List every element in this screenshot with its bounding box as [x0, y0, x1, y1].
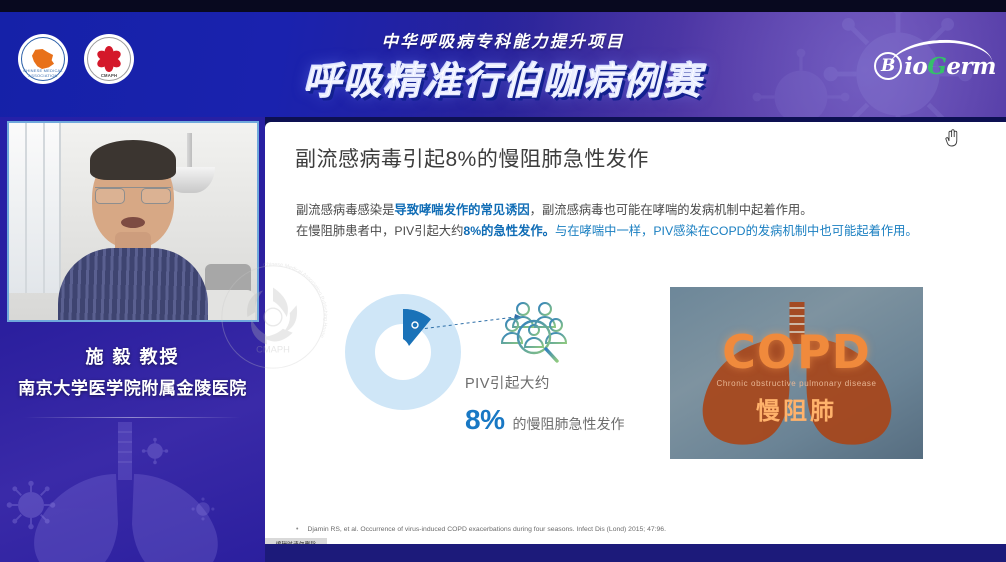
glasses-icon: [95, 187, 171, 204]
top-black-strip: [0, 0, 1006, 12]
copd-lungs-image: COPD Chronic obstructive pulmonary disea…: [670, 287, 923, 459]
copd-word: COPD: [670, 325, 923, 379]
screen-root: CHINESE MEDICAL ASSOCIATION CMAPH 中华呼吸病专…: [0, 0, 1006, 562]
body-p1-highlight: 导致哮喘发作的常见诱因: [394, 203, 529, 217]
presenter-figure: [58, 160, 208, 320]
presenter-nameplate: 施 毅 教授 南京大学医学院附属金陵医院: [0, 325, 265, 417]
banner-title: 呼吸精准行伯咖病例赛: [0, 50, 1006, 105]
biogerm-sponsor-logo: B ioGerm: [874, 46, 996, 86]
chart-caption: PIV引起大约 8% 的慢阻肺急性发作: [465, 372, 624, 436]
slide-title: 副流感病毒引起8%的慢阻肺急性发作: [295, 143, 649, 173]
footnote-bullet: •: [296, 526, 298, 534]
body-p2-highlight: 8%的急性发作。: [463, 224, 555, 238]
copd-chinese-label: 慢阻肺: [670, 391, 923, 426]
window-decoration: [9, 123, 61, 293]
caption-value: 8%: [465, 404, 504, 436]
slide-footnote: • Djamin RS, et al. Occurrence of virus-…: [296, 526, 956, 534]
body-p1-b: ，副流感病毒也可能在哮喘的发病机制中起着作用。: [530, 203, 813, 217]
presenter-video-feed[interactable]: [7, 121, 259, 322]
presenter-name: 施 毅 教授: [85, 343, 179, 369]
copd-subtitle: Chronic obstructive pulmonary disease: [670, 379, 923, 388]
body-p2-a: 在慢阻肺患者中，PIV引起大约: [296, 224, 463, 238]
presenter-organization: 南京大学医学院附属金陵医院: [18, 374, 247, 399]
bottom-strip: [265, 544, 1006, 562]
virus-background-icon-c: [190, 496, 216, 522]
banner-subtitle: 中华呼吸病专科能力提升项目: [0, 28, 1006, 52]
body-p2-b: 与在哮喘中一样，PIV感染在COPD的发病机制中也可能起着作用。: [555, 224, 918, 238]
caption-line2: 的慢阻肺急性发作: [512, 414, 624, 434]
caption-line1: PIV引起大约: [465, 372, 624, 393]
slide-body-text: 副流感病毒感染是导致哮喘发作的常见诱因，副流感病毒也可能在哮喘的发病机制中起着作…: [296, 200, 986, 242]
virus-background-icon-a: [4, 478, 58, 532]
hand-cursor: [944, 128, 960, 148]
nameplate-divider: [24, 417, 241, 418]
presenter-panel: 施 毅 教授 南京大学医学院附属金陵医院: [0, 117, 265, 562]
body-p1-a: 副流感病毒感染是: [296, 203, 394, 217]
presentation-slide[interactable]: 副流感病毒引起8%的慢阻肺急性发作 副流感病毒感染是导致哮喘发作的常见诱因，副流…: [265, 122, 1006, 544]
event-banner: CHINESE MEDICAL ASSOCIATION CMAPH 中华呼吸病专…: [0, 12, 1006, 117]
footnote-citation: Djamin RS, et al. Occurrence of virus-in…: [307, 526, 666, 533]
donut-chart: [343, 292, 463, 412]
people-search-icon: [493, 297, 569, 369]
virus-background-icon-b: [140, 436, 170, 466]
